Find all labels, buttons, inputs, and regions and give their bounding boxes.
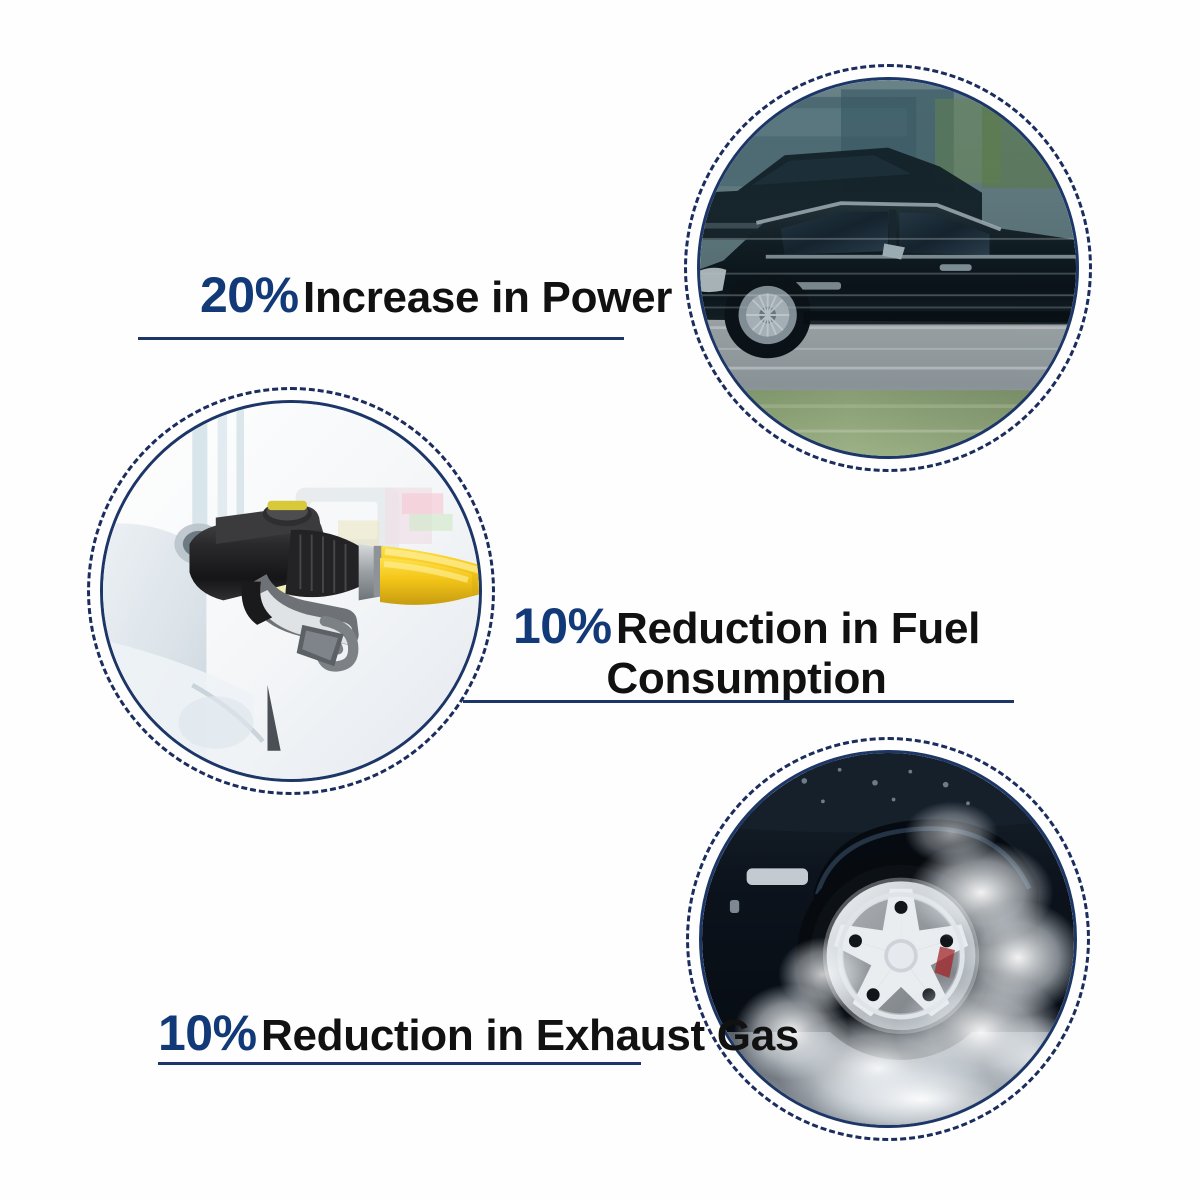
medallion-exhaust bbox=[686, 737, 1090, 1141]
stat-power: 20% Increase in Power bbox=[200, 270, 672, 320]
stat-power-percent: 20% bbox=[200, 267, 299, 323]
medallion-power bbox=[684, 64, 1092, 472]
stat-fuel-label: Reduction in Fuel bbox=[616, 604, 980, 653]
stat-fuel-percent: 10% bbox=[513, 598, 612, 654]
stat-exhaust-percent: 10% bbox=[158, 1005, 257, 1061]
stat-power-label: Increase in Power bbox=[303, 273, 672, 322]
stat-fuel-line-1: 10% Reduction in Fuel bbox=[513, 598, 980, 654]
photo-frame bbox=[697, 77, 1079, 459]
stat-fuel-line-2: Consumption bbox=[513, 654, 980, 703]
photo-frame bbox=[699, 750, 1077, 1128]
stat-exhaust-line: 10% Reduction in Exhaust Gas bbox=[158, 1008, 799, 1058]
stat-exhaust-label: Reduction in Exhaust Gas bbox=[261, 1011, 799, 1060]
stat-exhaust-underline bbox=[158, 1062, 641, 1065]
infographic-canvas: 20% Increase in Power 10% Reduction in F… bbox=[0, 0, 1200, 1200]
medallion-fuel bbox=[87, 387, 495, 795]
stat-power-underline bbox=[138, 337, 624, 340]
stat-exhaust: 10% Reduction in Exhaust Gas bbox=[158, 1008, 799, 1058]
stat-power-line: 20% Increase in Power bbox=[200, 270, 672, 320]
photo-frame bbox=[100, 400, 482, 782]
car-in-motion-photo bbox=[700, 80, 1076, 456]
fuel-nozzle-photo bbox=[103, 403, 479, 779]
stat-fuel-underline bbox=[463, 700, 1014, 703]
smoking-wheel-photo bbox=[702, 753, 1074, 1125]
stat-fuel: 10% Reduction in Fuel Consumption bbox=[513, 598, 980, 703]
